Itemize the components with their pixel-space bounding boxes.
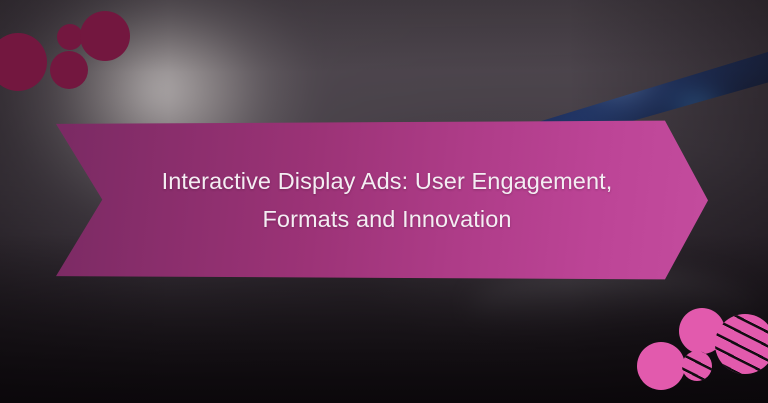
circle-stripe-pattern bbox=[682, 351, 712, 381]
page-title-line-1: Interactive Display Ads: User Engagement… bbox=[152, 162, 622, 200]
circle-left-plain bbox=[637, 342, 685, 390]
circle-medium-low bbox=[50, 51, 88, 89]
circle-large-left bbox=[0, 33, 47, 91]
banner-canvas: Interactive Display Ads: User Engagement… bbox=[0, 0, 768, 403]
title-banner: Interactive Display Ads: User Engagement… bbox=[56, 118, 708, 282]
circle-large-right bbox=[80, 11, 130, 61]
title-banner-text-wrap: Interactive Display Ads: User Engagement… bbox=[152, 162, 622, 238]
decoration-circles-bottom-right bbox=[630, 300, 768, 403]
circle-large-striped bbox=[715, 314, 768, 374]
circle-stripe-pattern bbox=[715, 314, 768, 374]
page-title-line-2: Formats and Innovation bbox=[152, 200, 622, 238]
circle-small-striped bbox=[682, 351, 712, 381]
decoration-circles-top-left bbox=[0, 0, 150, 110]
